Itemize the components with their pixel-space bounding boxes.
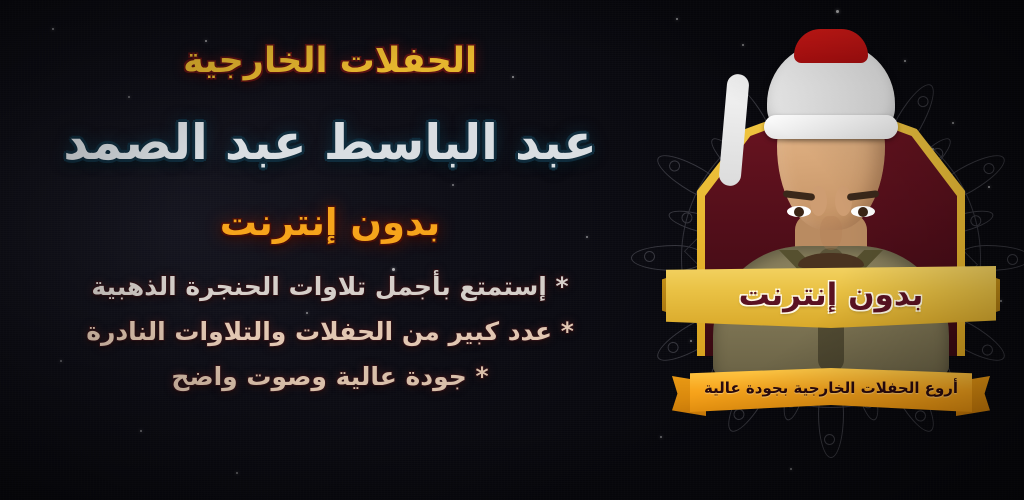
- text-column: الحفلات الخارجية عبد الباسط عبد الصمد بد…: [0, 0, 660, 500]
- subtitle-top: الحفلات الخارجية: [183, 40, 477, 84]
- page-title: عبد الباسط عبد الصمد: [63, 114, 597, 173]
- list-item: * عدد كبير من الحفلات والتلاوات النادرة: [86, 316, 574, 347]
- nose: [820, 216, 842, 250]
- ear-right: [810, 186, 827, 216]
- badge-ribbon-sub-label: أروع الحفلات الخارجية بجودة عالية: [704, 379, 958, 397]
- banner-canvas: الحفلات الخارجية عبد الباسط عبد الصمد بد…: [0, 0, 1024, 500]
- list-item: * إستمتع بأجمل تلاوات الحنجرة الذهبية: [91, 271, 568, 302]
- badge-ribbon-main-label: بدون إنترنت: [739, 277, 924, 313]
- offline-label: بدون إنترنت: [220, 201, 440, 245]
- feature-list: * إستمتع بأجمل تلاوات الحنجرة الذهبية * …: [0, 271, 660, 393]
- ear-left: [835, 186, 852, 216]
- turban-icon: [767, 42, 895, 134]
- mustache: [798, 253, 864, 270]
- turban-tail: [718, 73, 750, 186]
- eyebrow-left: [847, 190, 880, 201]
- eye-right: [787, 206, 811, 217]
- badge-ribbon-sub: أروع الحفلات الخارجية بجودة عالية: [690, 368, 972, 412]
- badge-area: بدون إنترنت أروع الحفلات الخارجية بجودة …: [638, 0, 1024, 500]
- badge-ribbon-main: بدون إنترنت: [666, 266, 996, 328]
- list-item: * جودة عالية وصوت واضح: [171, 361, 488, 392]
- eyebrow-right: [783, 190, 816, 201]
- turban-band: [764, 115, 898, 139]
- eye-left: [851, 206, 875, 217]
